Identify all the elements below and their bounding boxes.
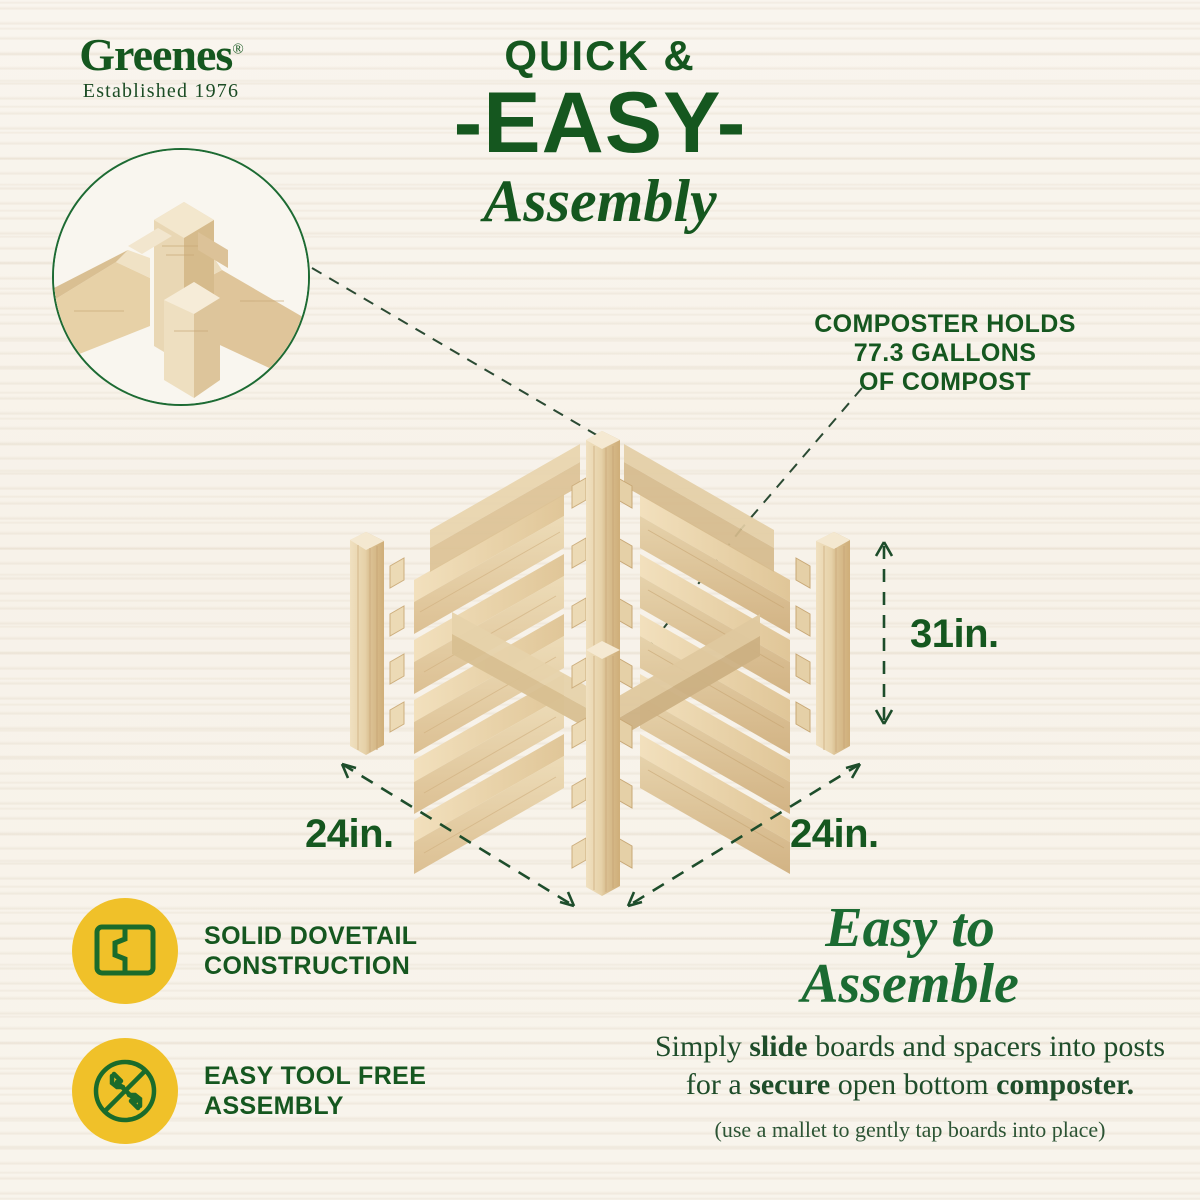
capacity-callout: COMPOSTER HOLDS 77.3 GALLONS OF COMPOST [780, 310, 1110, 397]
assemble-script-line-1: Easy to [640, 900, 1180, 956]
leader-line-capacity-2 [648, 528, 742, 648]
post-front-center [586, 641, 620, 896]
assemble-note: (use a mallet to gently tap boards into … [640, 1117, 1180, 1143]
assemble-emph-slide: slide [749, 1030, 807, 1063]
assemble-body: Simply slide boards and spacers into pos… [640, 1028, 1180, 1103]
capacity-line-2: 77.3 GALLONS [780, 339, 1110, 368]
leader-line-dovetail [312, 268, 600, 437]
feature-badge-1 [72, 898, 178, 1004]
assemble-emph-composter: composter. [996, 1068, 1134, 1101]
assemble-script-line-2: Assemble [640, 956, 1180, 1012]
brand-tagline: Established 1976 [36, 80, 286, 103]
capacity-line-3: OF COMPOST [780, 368, 1110, 397]
no-tools-wrench-icon [90, 1056, 160, 1126]
feature-badge-2 [72, 1038, 178, 1144]
leader-line-capacity [742, 388, 862, 528]
spacer-blocks-center-left [572, 478, 586, 868]
boards-left-face [414, 444, 580, 874]
registered-trademark-icon: ® [232, 42, 242, 58]
assembly-description: Easy to Assemble Simply slide boards and… [640, 900, 1180, 1143]
capacity-line-1: COMPOSTER HOLDS [780, 310, 1110, 339]
post-rear-center [586, 431, 620, 670]
headline-line-1: QUICK & [380, 34, 820, 78]
spacer-blocks-left-outer [390, 558, 404, 732]
boards-right-face [624, 444, 790, 874]
feature-tool-free-assembly: EASY TOOL FREE ASSEMBLY [72, 1038, 426, 1144]
brand-wordmark: Greenes® [79, 32, 243, 78]
dimension-label-height: 31in. [910, 612, 999, 657]
dimension-label-width-right: 24in. [790, 812, 879, 857]
page-title: QUICK & -EASY- Assembly [380, 34, 820, 233]
feature-label-1: SOLID DOVETAIL CONSTRUCTION [204, 921, 417, 981]
brand-logo: Greenes® Established 1976 [36, 32, 286, 103]
feature-label-2: EASY TOOL FREE ASSEMBLY [204, 1061, 426, 1121]
dimension-label-width-left: 24in. [305, 812, 394, 857]
assemble-body-mid-2: open bottom [830, 1068, 996, 1101]
dovetail-detail-callout [52, 148, 310, 406]
spacer-blocks-right-outer [796, 558, 810, 732]
boards-interior [452, 612, 760, 742]
infographic-canvas: Greenes® Established 1976 QUICK & -EASY-… [0, 0, 1200, 1200]
headline-line-3: Assembly [380, 170, 820, 233]
post-left-outer [350, 532, 384, 755]
feature-dovetail-construction: SOLID DOVETAIL CONSTRUCTION [72, 898, 417, 1004]
spacer-blocks-center-right [618, 478, 632, 868]
dimension-arrow-height [876, 542, 892, 724]
dovetail-icon [93, 921, 157, 981]
post-right-outer [816, 532, 850, 755]
headline-line-2: -EASY- [380, 80, 820, 166]
assemble-emph-secure: secure [749, 1068, 830, 1101]
dovetail-joint-photo [54, 150, 308, 404]
assemble-body-pre: Simply [655, 1030, 749, 1063]
brand-name: Greenes [79, 29, 232, 80]
